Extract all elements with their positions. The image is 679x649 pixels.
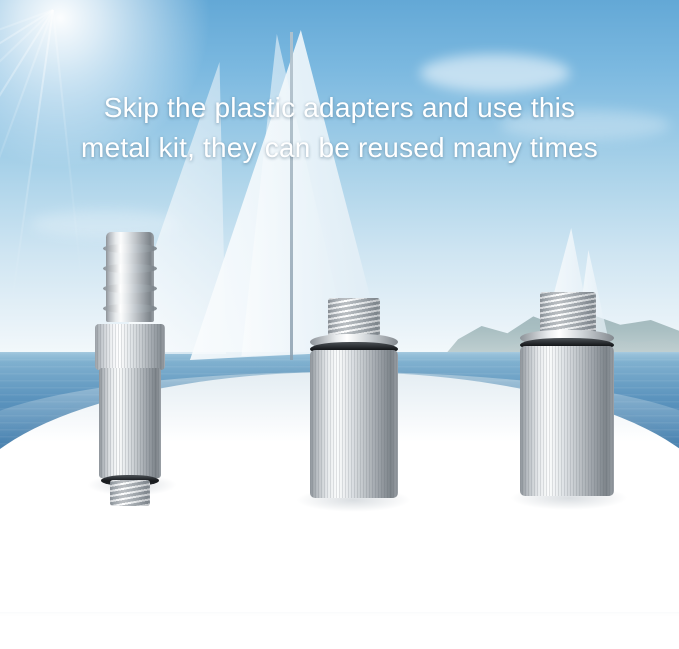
adapter-body	[310, 350, 398, 498]
metal-adapter-8mm-image	[248, 228, 458, 508]
swivel-adapter-image	[25, 228, 235, 508]
adapter-body	[520, 346, 614, 496]
product-infographic: Skip the plastic adapters and use this m…	[0, 0, 679, 649]
metal-adapter-10mm-image	[462, 228, 672, 508]
headline-line-2: metal kit, they can be reused many times	[0, 128, 679, 168]
product-metal-adapter-10mm: 10mm Metal Adapter Fits for Other Foreig…	[462, 228, 672, 508]
barb-rib	[103, 264, 157, 273]
barb-rib	[103, 304, 157, 313]
threaded-tip	[110, 480, 150, 506]
product-metal-adapter-8mm: 8mm Metal Adapter Fits for Other Foreign…	[248, 228, 458, 508]
cloud	[420, 54, 570, 92]
headline-line-1: Skip the plastic adapters and use this	[0, 88, 679, 128]
barb-rib	[103, 284, 157, 293]
product-row: 3/8" Swivel Adapter Fits for most Americ…	[0, 228, 679, 528]
product-swivel-adapter: 3/8" Swivel Adapter Fits for most Americ…	[25, 228, 235, 508]
swivel-body	[99, 368, 161, 478]
knurled-collar	[95, 324, 165, 370]
barb-rib	[103, 244, 157, 253]
headline: Skip the plastic adapters and use this m…	[0, 88, 679, 168]
